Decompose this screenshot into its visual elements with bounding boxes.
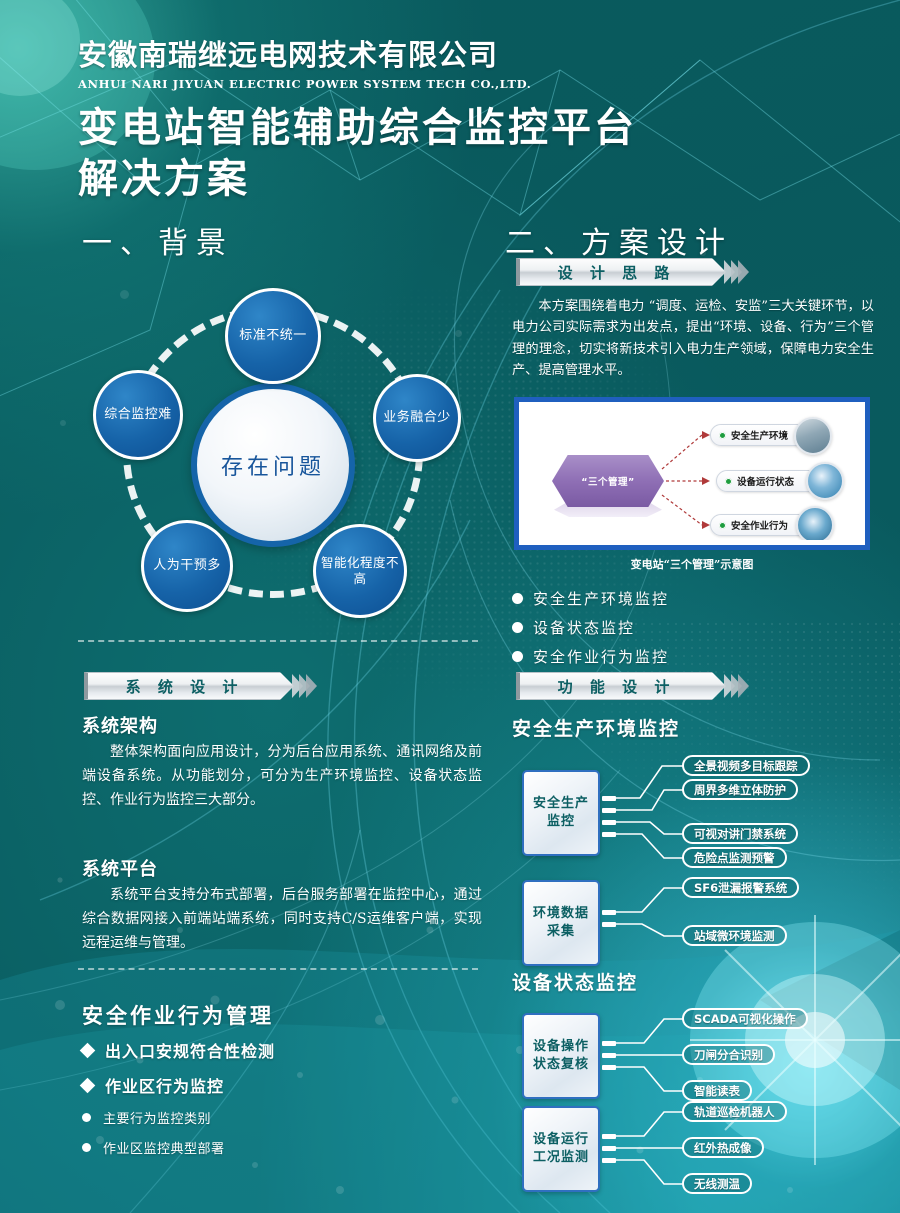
design-idea-bullet-list: 安全生产环境监控 设备状态监控 安全作业行为监控 bbox=[512, 588, 669, 675]
figure-thumb-equipment bbox=[806, 462, 844, 500]
chevron-right-icon bbox=[728, 674, 749, 698]
diamond-bullet-icon bbox=[80, 1077, 96, 1093]
tree-leaf: 可视对讲门禁系统 bbox=[682, 823, 798, 844]
page-title-line1: 变电站智能辅助综合监控平台 bbox=[78, 103, 838, 154]
status-dot-icon bbox=[725, 478, 732, 485]
banner-function-design: 功 能 设 计 bbox=[516, 672, 749, 700]
heading-safety-behavior: 安全作业行为管理 bbox=[82, 1000, 274, 1030]
tree-equipment-operation: 设备操作 状态复核 SCADA可视化操作 刀闸分合识别 智能读表 bbox=[512, 1005, 892, 1110]
status-dot-icon bbox=[719, 432, 726, 439]
tree-leaf: 全景视频多目标跟踪 bbox=[682, 755, 810, 776]
poster-header: 安徽南瑞继远电网技术有限公司 ANHUI NARI JIYUAN ELECTRI… bbox=[78, 32, 838, 205]
company-name-en: ANHUI NARI JIYUAN ELECTRIC POWER SYSTEM … bbox=[78, 77, 838, 91]
safety-behavior-list: 出入口安规符合性检测 作业区行为监控 主要行为监控类别 作业区监控典型部署 bbox=[82, 1038, 275, 1168]
diagram-center-node: 存在问题 bbox=[191, 383, 355, 547]
figure-caption: 变电站“三个管理”示意图 bbox=[514, 556, 870, 572]
divider-left-bottom bbox=[78, 968, 478, 970]
figure-thumb-behavior bbox=[796, 506, 834, 540]
bullet-dot-icon bbox=[82, 1143, 91, 1152]
diagram-node-monitoring: 综合监控难 bbox=[93, 370, 183, 460]
bullet-dot-icon bbox=[512, 651, 523, 662]
tree-leaf: 无线测温 bbox=[682, 1173, 752, 1194]
problem-circle-diagram: 存在问题 标准不统一 综合监控难 业务融合少 人为干预多 智能化程度不高 bbox=[85, 288, 485, 618]
heading-equipment-status-monitoring: 设备状态监控 bbox=[512, 968, 638, 995]
diagram-node-manual: 人为干预多 bbox=[141, 520, 233, 612]
chevron-right-icon bbox=[728, 260, 749, 284]
tree-equipment-operating-condition: 设备运行 工况监测 轨道巡检机器人 红外热成像 无线测温 bbox=[512, 1098, 892, 1203]
page-title: 变电站智能辅助综合监控平台 解决方案 bbox=[78, 103, 838, 205]
banner-plate: 设 计 思 路 bbox=[516, 258, 726, 286]
heading-system-platform: 系统平台 bbox=[82, 855, 158, 881]
page-title-line2: 解决方案 bbox=[78, 154, 838, 205]
figure-canvas: “三个管理” 安全生产环境 设备运行状态 安全作业行为 bbox=[524, 407, 860, 540]
bullet-dot-icon bbox=[512, 593, 523, 604]
list-item: 主要行为监控类别 bbox=[82, 1108, 275, 1127]
tree-leaf: 站域微环境监测 bbox=[682, 925, 787, 946]
section-title-solution-design: 二、方案设计 bbox=[505, 218, 733, 262]
banner-plate: 功 能 设 计 bbox=[516, 672, 726, 700]
three-management-figure: “三个管理” 安全生产环境 设备运行状态 安全作业行为 bbox=[514, 397, 870, 550]
banner-system-design: 系 统 设 计 bbox=[84, 672, 317, 700]
heading-system-architecture: 系统架构 bbox=[82, 712, 158, 738]
banner-label: 系 统 设 计 bbox=[126, 676, 244, 697]
company-name-cn: 安徽南瑞继远电网技术有限公司 bbox=[78, 32, 838, 74]
divider-left-top bbox=[78, 640, 478, 642]
banner-design-idea: 设 计 思 路 bbox=[516, 258, 749, 286]
tree-leaf: 轨道巡检机器人 bbox=[682, 1101, 787, 1122]
list-item: 作业区监控典型部署 bbox=[82, 1138, 275, 1157]
bullet-dot-icon bbox=[512, 622, 523, 633]
tree-environment-data: 环境数据 采集 SF6泄漏报警系统 站域微环境监测 bbox=[512, 872, 892, 972]
paragraph-system-platform: 系统平台支持分布式部署，后台服务部署在监控中心，通过综合数据网接入前端站端系统，… bbox=[82, 883, 482, 955]
banner-plate: 系 统 设 计 bbox=[84, 672, 294, 700]
tree-leaf: SCADA可视化操作 bbox=[682, 1008, 808, 1029]
chevron-right-icon bbox=[296, 674, 317, 698]
tree-leaf: 刀闸分合识别 bbox=[682, 1044, 775, 1065]
tree-safety-production: 安全生产 监控 全景视频多目标跟踪 周界多维立体防护 可视对讲门禁系统 危险点监… bbox=[512, 752, 892, 872]
paragraph-system-architecture: 整体架构面向应用设计，分为后台应用系统、通讯网络及前端设备系统。从功能划分，可分… bbox=[82, 740, 482, 812]
heading-production-env-monitoring: 安全生产环境监控 bbox=[512, 714, 680, 741]
tree-leaf: SF6泄漏报警系统 bbox=[682, 877, 799, 898]
design-idea-paragraph: 本方案围绕着电力 “调度、运检、安监”三大关键环节，以电力公司实际需求为出发点，… bbox=[512, 296, 874, 382]
bullet-item: 安全生产环境监控 bbox=[512, 588, 669, 609]
tree-leaf: 危险点监测预警 bbox=[682, 847, 787, 868]
list-item: 出入口安规符合性检测 bbox=[82, 1038, 275, 1062]
bullet-item: 设备状态监控 bbox=[512, 617, 669, 638]
diagram-node-integration: 业务融合少 bbox=[373, 374, 461, 462]
banner-label: 功 能 设 计 bbox=[558, 676, 676, 697]
bullet-dot-icon bbox=[82, 1113, 91, 1122]
section-title-background: 一、背景 bbox=[82, 218, 234, 262]
bullet-item: 安全作业行为监控 bbox=[512, 646, 669, 667]
diagram-node-intelligence: 智能化程度不高 bbox=[313, 524, 407, 618]
list-item: 作业区行为监控 bbox=[82, 1073, 275, 1097]
diagram-node-standard: 标准不统一 bbox=[225, 288, 321, 384]
tree-leaf: 周界多维立体防护 bbox=[682, 779, 798, 800]
banner-label: 设 计 思 路 bbox=[558, 262, 676, 283]
status-dot-icon bbox=[719, 522, 726, 529]
tree-leaf: 红外热成像 bbox=[682, 1137, 764, 1158]
figure-thumb-environment bbox=[794, 417, 832, 455]
diamond-bullet-icon bbox=[80, 1042, 96, 1058]
